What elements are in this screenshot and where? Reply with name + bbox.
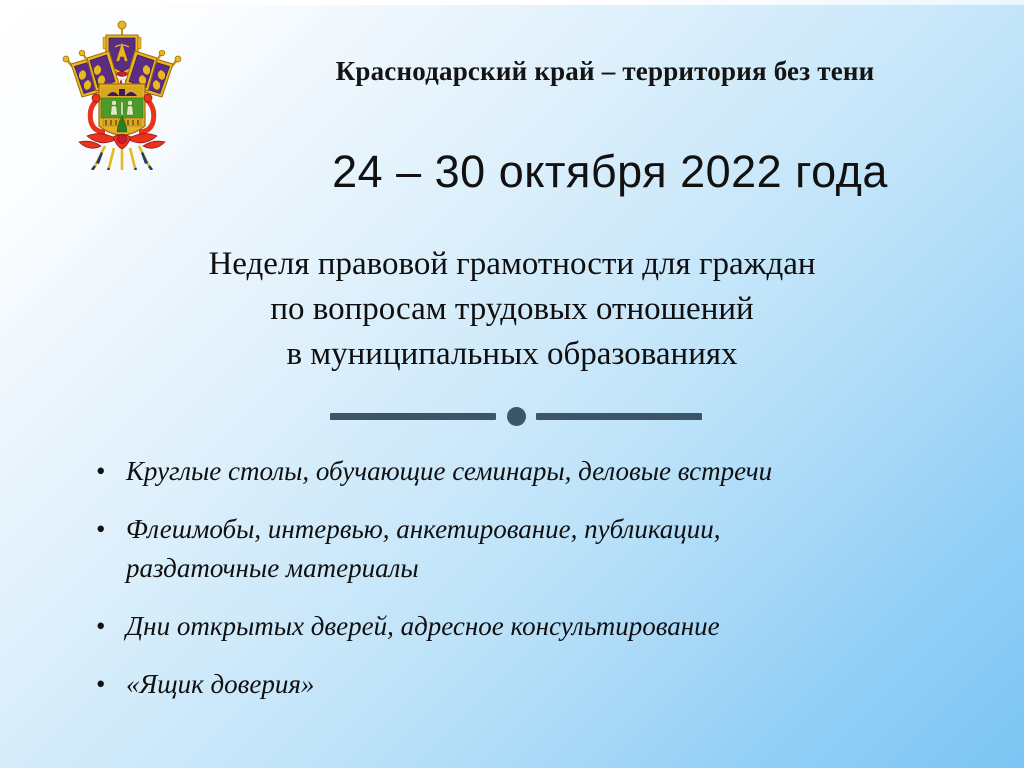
list-item: • «Ящик доверия» [88, 665, 988, 704]
list-item-line: раздаточные материалы [126, 549, 988, 588]
bullet-marker-icon: • [96, 452, 116, 491]
subtitle-line-1: Неделя правовой грамотности для граждан [62, 242, 962, 287]
list-item: • Круглые столы, обучающие семинары, дел… [88, 452, 988, 491]
page-title: Краснодарский край – территория без тени [210, 54, 1000, 88]
list-item-line: Флешмобы, интервью, анкетирование, публи… [126, 510, 988, 549]
list-item-text: «Ящик доверия» [126, 665, 988, 704]
list-item-line: Круглые столы, обучающие семинары, делов… [126, 452, 988, 491]
section-divider [330, 406, 702, 426]
activities-list: • Круглые столы, обучающие семинары, дел… [88, 452, 988, 704]
event-date: 24 – 30 октября 2022 года [210, 144, 1010, 199]
list-item-text: Дни открытых дверей, адресное консультир… [126, 607, 988, 646]
list-item-text: Флешмобы, интервью, анкетирование, публи… [126, 510, 988, 588]
divider-bar-right [536, 413, 702, 420]
presentation-slide: Краснодарский край – территория без тени… [0, 0, 1024, 768]
divider-bar-left [330, 413, 496, 420]
list-item: • Дни открытых дверей, адресное консульт… [88, 607, 988, 646]
list-item-line: «Ящик доверия» [126, 665, 988, 704]
subtitle-line-3: в муниципальных образованиях [62, 332, 962, 377]
bullet-marker-icon: • [96, 665, 116, 704]
event-subtitle: Неделя правовой грамотности для граждан … [62, 242, 962, 377]
krasnodar-krai-coat-of-arms-icon [57, 18, 187, 170]
list-item-text: Круглые столы, обучающие семинары, делов… [126, 452, 988, 491]
bullet-marker-icon: • [96, 607, 116, 646]
subtitle-line-2: по вопросам трудовых отношений [62, 287, 962, 332]
list-item-line: Дни открытых дверей, адресное консультир… [126, 607, 988, 646]
divider-dot-icon [507, 407, 526, 426]
bullet-marker-icon: • [96, 510, 116, 549]
list-item: • Флешмобы, интервью, анкетирование, пуб… [88, 510, 988, 588]
